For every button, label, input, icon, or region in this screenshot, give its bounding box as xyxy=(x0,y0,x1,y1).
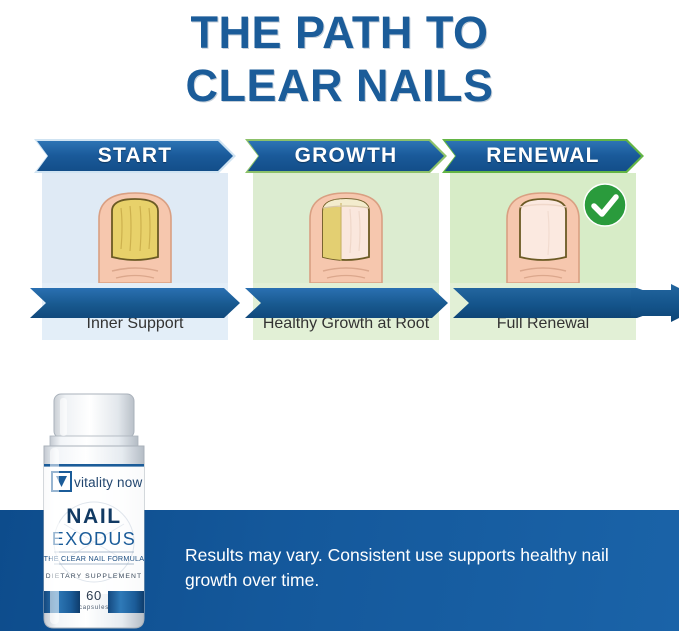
stage-banner-growth: GROWTH xyxy=(253,139,439,173)
footer-disclaimer-text: Results may vary. Consistent use support… xyxy=(185,543,655,593)
svg-text:vitality now: vitality now xyxy=(74,475,142,490)
product-bottle: vitality now NAIL EXODUS THE CLEAR NAIL … xyxy=(30,392,180,631)
svg-text:NAIL: NAIL xyxy=(66,505,121,528)
svg-text:EXODUS: EXODUS xyxy=(52,529,136,549)
arrow-segment-2 xyxy=(245,288,448,318)
progress-arrow-band xyxy=(30,288,679,318)
stage-banner-label: RENEWAL xyxy=(450,139,636,173)
nail-panel-renewal xyxy=(450,173,636,283)
stage-banner-start: START xyxy=(42,139,228,173)
page-title: THE PATH TO CLEAR NAILS xyxy=(0,0,679,112)
half-clear-half-yellow-nail-icon xyxy=(253,173,439,283)
page-title-line-2: CLEAR NAILS xyxy=(0,59,679,112)
yellow-discolored-nail-icon xyxy=(42,173,228,283)
stage-banner-label: START xyxy=(42,139,228,173)
nail-panel-growth xyxy=(253,173,439,283)
check-badge-icon xyxy=(582,182,628,228)
stage-banner-renewal: RENEWAL xyxy=(450,139,636,173)
stage-banner-label: GROWTH xyxy=(253,139,439,173)
page-title-line-1: THE PATH TO xyxy=(0,6,679,59)
nail-panel-start xyxy=(42,173,228,283)
arrow-segment-1 xyxy=(30,288,240,318)
svg-text:DIETARY SUPPLEMENT: DIETARY SUPPLEMENT xyxy=(46,573,142,580)
